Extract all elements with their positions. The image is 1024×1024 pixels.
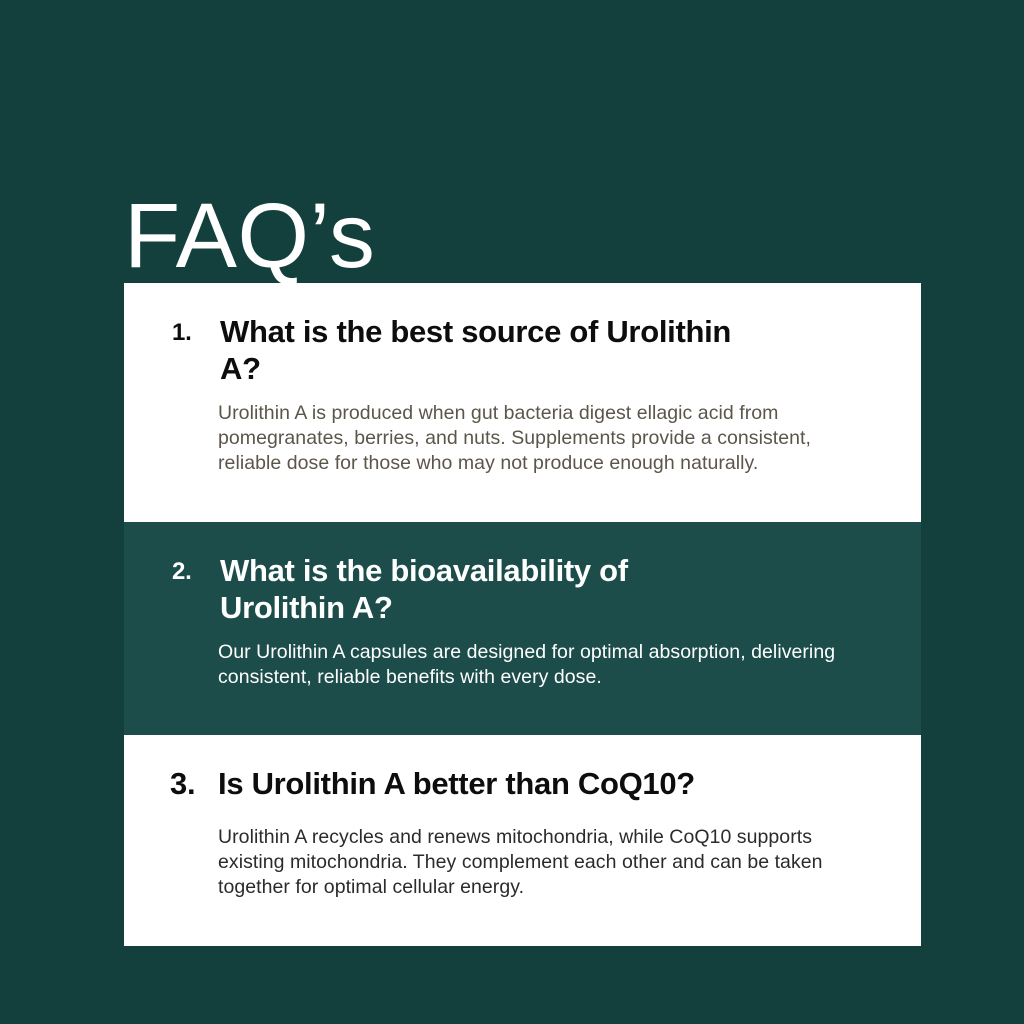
faq-item-3-question: Is Urolithin A better than CoQ10? <box>218 765 858 803</box>
faq-item-2-question: What is the bioavailability of Urolithin… <box>220 552 740 626</box>
faq-item-2-number: 2. <box>170 552 220 592</box>
faq-item-1-question: What is the best source of Urolithin A? <box>220 313 740 387</box>
faq-poster: FAQ’s 1. What is the best source of Urol… <box>0 0 1024 1024</box>
faq-item-2[interactable]: 2. What is the bioavailability of Urolit… <box>124 522 921 736</box>
faq-item-3-answer: Urolithin A recycles and renews mitochon… <box>170 825 828 900</box>
faq-item-3-heading: 3. Is Urolithin A better than CoQ10? <box>170 765 869 803</box>
faq-item-3-number: 3. <box>170 765 218 803</box>
faq-item-1[interactable]: 1. What is the best source of Urolithin … <box>124 283 921 522</box>
faq-item-3[interactable]: 3. Is Urolithin A better than CoQ10? Uro… <box>124 735 921 946</box>
faq-item-2-heading: 2. What is the bioavailability of Urolit… <box>170 552 869 626</box>
page-title: FAQ’s <box>124 188 375 285</box>
faq-item-1-answer: Urolithin A is produced when gut bacteri… <box>170 401 858 476</box>
faq-list: 1. What is the best source of Urolithin … <box>124 283 921 946</box>
faq-item-1-heading: 1. What is the best source of Urolithin … <box>170 313 869 387</box>
faq-item-2-answer: Our Urolithin A capsules are designed fo… <box>170 640 858 690</box>
faq-item-1-number: 1. <box>170 313 220 353</box>
